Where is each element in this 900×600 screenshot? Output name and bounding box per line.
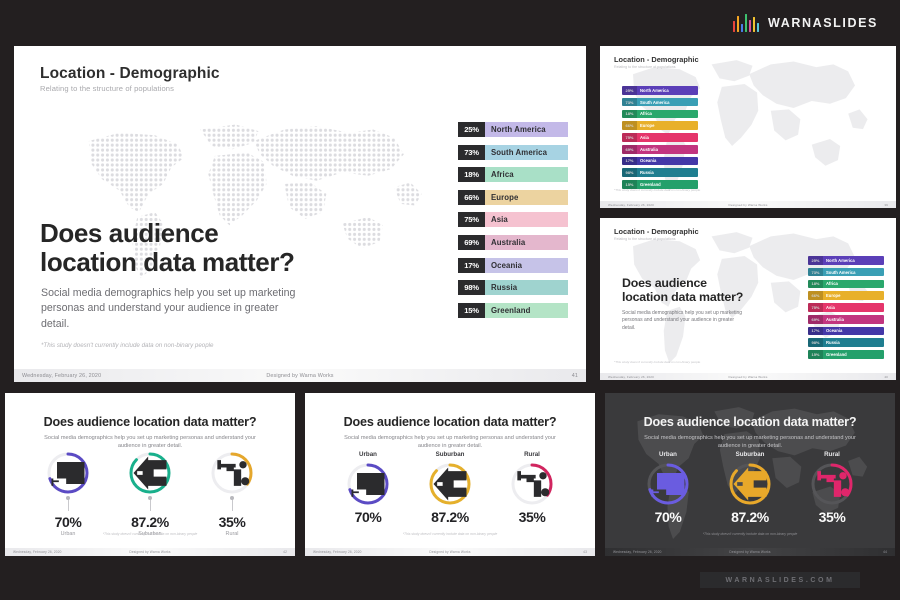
legend-region-label: Asia: [823, 303, 884, 312]
brand-bar: [745, 14, 748, 32]
legend-region-label: Europe: [823, 291, 884, 300]
legend-row[interactable]: 25%North America: [458, 122, 568, 137]
main-slide-subtitle: Relating to the structure of populations: [40, 84, 174, 93]
legend-percentage: 17%: [622, 157, 637, 166]
legend-row[interactable]: 66%Europe: [622, 121, 698, 130]
thumb-subtitle: Relating to the structure of populations: [614, 65, 676, 69]
legend-percentage: 66%: [458, 190, 485, 205]
footer-credit: Designed by Warna Works: [729, 203, 768, 207]
legend-region-label: Europe: [485, 190, 568, 205]
footer-page-number: 42: [283, 550, 287, 554]
donut-value: 70%: [340, 509, 396, 525]
donut-ring: [46, 451, 90, 495]
legend-region-label: Africa: [485, 167, 568, 182]
donut-value: 70%: [40, 514, 96, 530]
legend-row[interactable]: 75%Asia: [458, 212, 568, 227]
donut-slide-footnote: *This study doesn't currently include da…: [305, 532, 595, 536]
legend-row[interactable]: 98%Russia: [808, 338, 884, 347]
donut-slide-footer: Wednesday, February 26, 2020 Designed by…: [605, 548, 895, 556]
slide-donut-light-labels-below[interactable]: Does audience location data matter? Soci…: [5, 393, 295, 556]
legend-row[interactable]: 18%Africa: [808, 280, 884, 289]
legend-region-label: Russia: [485, 280, 568, 295]
brand-bar: [737, 16, 740, 32]
site-watermark: WARNASLIDES.COM: [700, 572, 860, 588]
slide-main-location-demographic[interactable]: Location - Demographic Relating to the s…: [14, 46, 586, 382]
thumb-title: Location - Demographic: [614, 55, 699, 64]
donut-ring: [428, 462, 472, 506]
legend-row[interactable]: 17%Oceania: [458, 258, 568, 273]
donut-chart-group: Urban70%Suburban87.2%Rural35%: [305, 451, 595, 525]
footer-page-number: 43: [583, 550, 587, 554]
legend-percentage: 69%: [458, 235, 485, 250]
legend-percentage: 69%: [622, 145, 637, 154]
legend-region-label: Australia: [637, 145, 698, 154]
donut-chart-item[interactable]: Rural35%: [504, 451, 560, 525]
brand-bar: [741, 24, 744, 32]
thumb-headline: Does audience location data matter?: [622, 276, 743, 305]
donut-slide-subtitle: Social media demographics help you set u…: [41, 435, 259, 451]
legend-percentage: 75%: [622, 133, 637, 142]
donut-slide-footer: Wednesday, February 26, 2020 Designed by…: [305, 548, 595, 556]
brand-bar: [753, 17, 756, 32]
donut-chart-item[interactable]: Urban70%: [640, 451, 696, 525]
legend-region-label: Europe: [637, 121, 698, 130]
donut-chart-item[interactable]: 87.2%Suburban: [122, 451, 178, 537]
farm-tractor-icon: [810, 462, 854, 506]
house-icon: [728, 462, 772, 506]
region-percentage-legend: 25%North America73%South America18%Afric…: [458, 122, 568, 325]
legend-row[interactable]: 25%North America: [808, 256, 884, 265]
house-icon: [128, 451, 172, 495]
main-slide-footnote: *This study doesn't currently include da…: [41, 342, 213, 349]
thumb-footer: Wednesday, February 26, 2020 Designed by…: [600, 373, 896, 380]
legend-region-label: North America: [637, 86, 698, 95]
legend-region-label: Greenland: [823, 350, 884, 359]
brand-bars-icon: [733, 14, 760, 32]
main-slide-body-text: Social media demographics help you set u…: [41, 286, 309, 332]
thumb-footer: Wednesday, February 26, 2020 Designed by…: [600, 201, 896, 208]
donut-slide-title: Does audience location data matter?: [605, 415, 895, 429]
headline-line-2: location data matter?: [40, 248, 295, 277]
footer-credit: Designed by Warna Works: [729, 375, 768, 379]
thumb-footnote: *This study doesn't currently include da…: [614, 188, 700, 192]
donut-ring: [810, 462, 854, 506]
donut-value: 35%: [204, 514, 260, 530]
legend-row[interactable]: 73%South America: [622, 98, 698, 107]
main-slide-title: Location - Demographic: [40, 65, 220, 83]
legend-row[interactable]: 17%Oceania: [808, 327, 884, 336]
slide-donut-dark[interactable]: Does audience location data matter? Soci…: [605, 393, 895, 556]
footer-date: Wednesday, February 26, 2020: [608, 375, 654, 379]
donut-ring: [510, 462, 554, 506]
brand-bar: [757, 23, 760, 32]
brand-bar: [749, 20, 752, 32]
donut-value: 70%: [640, 509, 696, 525]
legend-percentage: 15%: [458, 303, 485, 318]
thumb-footnote: *This study doesn't currently include da…: [614, 360, 700, 364]
legend-region-label: Australia: [823, 315, 884, 324]
headline-line-1: Does audience: [40, 219, 295, 248]
footer-credit: Designed by Warna Works: [729, 550, 770, 554]
donut-chart-group: Urban70%Suburban87.2%Rural35%: [605, 451, 895, 525]
slide-deck-preview-canvas: WARNASLIDES Location - Demographic Relat…: [0, 0, 900, 600]
donut-category-label: Suburban: [722, 451, 778, 458]
slide-thumb-map-with-headline[interactable]: Location - Demographic Relating to the s…: [600, 218, 896, 380]
legend-percentage: 69%: [808, 315, 823, 324]
legend-row[interactable]: 98%Russia: [622, 168, 698, 177]
legend-row[interactable]: 66%Europe: [808, 291, 884, 300]
legend-row[interactable]: 98%Russia: [458, 280, 568, 295]
donut-ring: [210, 451, 254, 495]
legend-row[interactable]: 75%Asia: [622, 133, 698, 142]
legend-region-label: Asia: [485, 212, 568, 227]
legend-row[interactable]: 69%Australia: [808, 315, 884, 324]
donut-slide-title: Does audience location data matter?: [305, 415, 595, 429]
city-building-icon: [646, 462, 690, 506]
legend-percentage: 73%: [622, 98, 637, 107]
legend-region-label: Greenland: [485, 303, 568, 318]
donut-chart-item[interactable]: Suburban87.2%: [422, 451, 478, 525]
legend-row[interactable]: 69%Australia: [622, 145, 698, 154]
legend-percentage: 75%: [808, 303, 823, 312]
main-slide-headline: Does audience location data matter?: [40, 219, 295, 278]
legend-region-label: Africa: [823, 280, 884, 289]
donut-ring: [646, 462, 690, 506]
legend-region-label: Africa: [637, 110, 698, 119]
thumb-subtitle: Relating to the structure of populations: [614, 237, 676, 241]
footer-page-number: 44: [883, 550, 887, 554]
donut-slide-footnote: *This study doesn't currently include da…: [605, 532, 895, 536]
legend-percentage: 75%: [458, 212, 485, 227]
donut-ring: [128, 451, 172, 495]
footer-date: Wednesday, February 26, 2020: [313, 550, 362, 554]
donut-chart-item[interactable]: Suburban87.2%: [722, 451, 778, 525]
legend-row[interactable]: 18%Africa: [622, 110, 698, 119]
donut-category-label: Suburban: [422, 451, 478, 458]
house-icon: [428, 462, 472, 506]
thumb-title: Location - Demographic: [614, 227, 699, 236]
legend-region-label: South America: [485, 145, 568, 160]
donut-category-label: Urban: [340, 451, 396, 458]
legend-percentage: 18%: [808, 280, 823, 289]
donut-chart-item[interactable]: Rural35%: [804, 451, 860, 525]
legend-row[interactable]: 75%Asia: [808, 303, 884, 312]
legend-percentage: 98%: [622, 168, 637, 177]
donut-value: 87.2%: [422, 509, 478, 525]
legend-row[interactable]: 73%South America: [458, 145, 568, 160]
farm-tractor-icon: [510, 462, 554, 506]
donut-connector-stem: [150, 498, 151, 511]
donut-chart-item[interactable]: 35%Rural: [204, 451, 260, 537]
legend-region-label: Russia: [823, 338, 884, 347]
footer-credit: Designed by Warna Works: [129, 550, 170, 554]
donut-value: 87.2%: [722, 509, 778, 525]
footer-credit: Designed by Warna Works: [266, 373, 333, 379]
legend-percentage: 73%: [458, 145, 485, 160]
donut-chart-item[interactable]: 70%Urban: [40, 451, 96, 537]
donut-category-label: Rural: [804, 451, 860, 458]
legend-region-label: Oceania: [637, 157, 698, 166]
legend-row[interactable]: 66%Europe: [458, 190, 568, 205]
thumb-body-text: Social media demographics help you set u…: [622, 310, 746, 332]
legend-row[interactable]: 18%Africa: [458, 167, 568, 182]
legend-percentage: 25%: [622, 86, 637, 95]
footer-page-number: 39: [884, 203, 888, 207]
legend-row[interactable]: 25%North America: [622, 86, 698, 95]
legend-row[interactable]: 17%Oceania: [622, 157, 698, 166]
legend-region-label: Russia: [637, 168, 698, 177]
donut-connector-stem: [232, 498, 233, 511]
legend-percentage: 17%: [458, 258, 485, 273]
donut-category-label: Rural: [504, 451, 560, 458]
donut-slide-footer: Wednesday, February 26, 2020 Designed by…: [5, 548, 295, 556]
legend-region-label: North America: [823, 256, 884, 265]
donut-connector-stem: [68, 498, 69, 511]
brand-logo: WARNASLIDES: [733, 14, 878, 32]
legend-row[interactable]: 73%South America: [808, 268, 884, 277]
footer-date: Wednesday, February 26, 2020: [608, 203, 654, 207]
legend-percentage: 66%: [808, 291, 823, 300]
donut-value: 87.2%: [122, 514, 178, 530]
footer-date: Wednesday, February 26, 2020: [13, 550, 62, 554]
legend-percentage: 25%: [808, 256, 823, 265]
slide-thumb-map-only[interactable]: Location - Demographic Relating to the s…: [600, 46, 896, 208]
donut-slide-footnote: *This study doesn't currently include da…: [5, 532, 295, 536]
legend-row[interactable]: 69%Australia: [458, 235, 568, 250]
footer-page-number: 40: [884, 375, 888, 379]
slide-donut-light-labels-above[interactable]: Does audience location data matter? Soci…: [305, 393, 595, 556]
donut-category-label: Urban: [640, 451, 696, 458]
legend-row[interactable]: 15%Greenland: [458, 303, 568, 318]
legend-region-label: Australia: [485, 235, 568, 250]
legend-region-label: Oceania: [485, 258, 568, 273]
donut-slide-title: Does audience location data matter?: [5, 415, 295, 429]
donut-chart-group: 70%Urban87.2%Suburban35%Rural: [5, 451, 295, 537]
donut-chart-item[interactable]: Urban70%: [340, 451, 396, 525]
donut-value: 35%: [504, 509, 560, 525]
footer-date: Wednesday, February 26, 2020: [22, 373, 101, 379]
headline-line-1: Does audience: [622, 276, 743, 290]
legend-percentage: 98%: [458, 280, 485, 295]
donut-slide-subtitle: Social media demographics help you set u…: [341, 435, 559, 451]
donut-ring: [346, 462, 390, 506]
farm-tractor-icon: [210, 451, 254, 495]
footer-page-number: 41: [572, 373, 578, 379]
donut-slide-subtitle: Social media demographics help you set u…: [641, 435, 859, 451]
main-slide-footer: Wednesday, February 26, 2020 Designed by…: [14, 369, 586, 382]
legend-percentage: 66%: [622, 121, 637, 130]
brand-name: WARNASLIDES: [768, 16, 878, 30]
legend-percentage: 98%: [808, 338, 823, 347]
legend-percentage: 18%: [458, 167, 485, 182]
footer-credit: Designed by Warna Works: [429, 550, 470, 554]
donut-ring: [728, 462, 772, 506]
city-building-icon: [46, 451, 90, 495]
legend-percentage: 17%: [808, 327, 823, 336]
legend-percentage: 15%: [808, 350, 823, 359]
footer-date: Wednesday, February 26, 2020: [613, 550, 662, 554]
legend-row[interactable]: 15%Greenland: [808, 350, 884, 359]
legend-region-label: South America: [823, 268, 884, 277]
thumb-region-legend: 25%North America73%South America18%Afric…: [622, 86, 698, 192]
thumb-region-legend: 25%North America73%South America18%Afric…: [808, 256, 884, 362]
donut-value: 35%: [804, 509, 860, 525]
legend-percentage: 73%: [808, 268, 823, 277]
legend-region-label: Asia: [637, 133, 698, 142]
legend-region-label: South America: [637, 98, 698, 107]
legend-percentage: 25%: [458, 122, 485, 137]
legend-percentage: 18%: [622, 110, 637, 119]
headline-line-2: location data matter?: [622, 290, 743, 304]
legend-region-label: North America: [485, 122, 568, 137]
legend-region-label: Oceania: [823, 327, 884, 336]
brand-bar: [733, 21, 736, 32]
city-building-icon: [346, 462, 390, 506]
